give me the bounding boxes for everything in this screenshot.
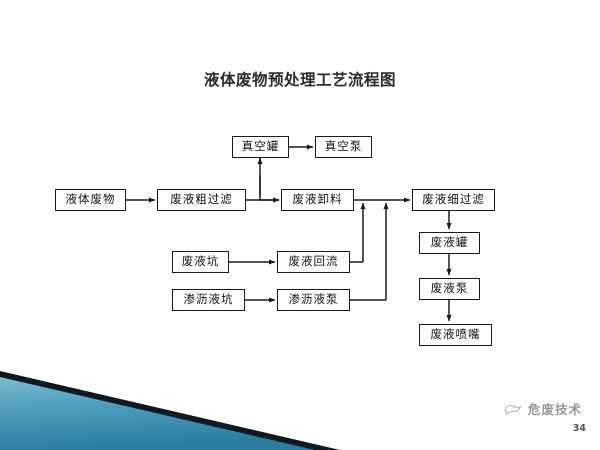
brand-name: 危废技术 — [528, 399, 582, 418]
node-leachate-pit[interactable]: 渗沥液坑 — [172, 289, 245, 311]
node-waste-nozzle[interactable]: 废液喷嘴 — [419, 324, 492, 346]
node-vacuum-tank[interactable]: 真空罐 — [232, 136, 289, 158]
process-flow-diagram: 液体废物 废液粗过滤 真空罐 真空泵 废液卸料 废液细过滤 废液坑 废液回流 渗… — [0, 0, 600, 450]
node-waste-tank[interactable]: 废液罐 — [419, 232, 480, 254]
node-vacuum-pump[interactable]: 真空泵 — [315, 136, 372, 158]
node-waste-unloading[interactable]: 废液卸料 — [281, 189, 354, 211]
flow-connectors — [0, 0, 600, 450]
node-waste-liquid-pump[interactable]: 废液泵 — [419, 278, 480, 300]
node-leachate-pump[interactable]: 渗沥液泵 — [277, 289, 350, 311]
slide-canvas: 液体废物预处理工艺流程图 — [0, 0, 600, 450]
bird-logo-icon — [503, 402, 523, 416]
node-liquid-waste[interactable]: 液体废物 — [55, 189, 126, 211]
page-number: 34 — [573, 423, 586, 434]
brand-watermark: 危废技术 — [503, 399, 582, 418]
node-waste-pit[interactable]: 废液坑 — [172, 251, 229, 273]
node-waste-reflux[interactable]: 废液回流 — [277, 251, 350, 273]
node-fine-filter[interactable]: 废液细过滤 — [412, 189, 495, 211]
node-coarse-filter[interactable]: 废液粗过滤 — [157, 189, 246, 211]
